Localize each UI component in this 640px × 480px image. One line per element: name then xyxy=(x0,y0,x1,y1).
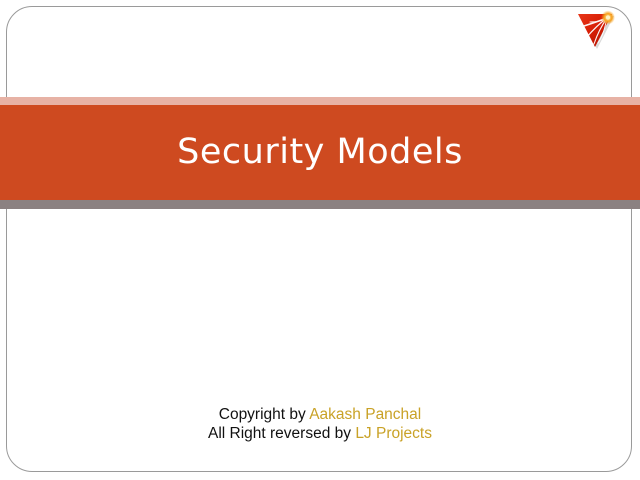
slide-title: Security Models xyxy=(177,135,463,170)
credit-line-rights: All Right reversed by LJ Projects xyxy=(0,424,640,443)
credit-author-name: Aakash Panchal xyxy=(309,406,421,423)
slide-border-frame xyxy=(6,6,632,472)
presentation-slide: Security Models Copyright by Aakash Panc… xyxy=(0,0,640,480)
credits-block: Copyright by Aakash Panchal All Right re… xyxy=(0,405,640,443)
credit-line-copyright: Copyright by Aakash Panchal xyxy=(0,405,640,424)
banner-top-accent-strip xyxy=(0,97,640,105)
credit-organization-name: LJ Projects xyxy=(355,425,432,442)
title-banner: Security Models xyxy=(0,97,640,209)
banner-bottom-accent-strip xyxy=(0,200,640,209)
credit-line-1-prefix: Copyright by xyxy=(219,406,309,423)
banner-main: Security Models xyxy=(0,105,640,200)
lj-shield-logo-icon xyxy=(574,9,618,53)
credit-line-2-prefix: All Right reversed by xyxy=(208,425,355,442)
